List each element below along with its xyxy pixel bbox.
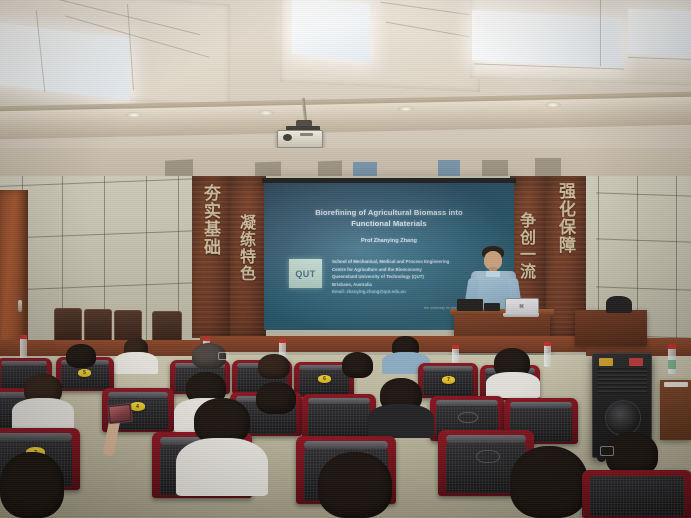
bottle-cap-icon [20,335,27,339]
skylight-far-right [628,9,691,56]
audience-head [342,352,373,378]
audience-shoulders [114,352,158,374]
seat-headrest [0,433,72,441]
glasses-icon [600,446,614,456]
downlight [258,110,274,116]
audience-shoulders [176,438,268,496]
downlight [398,106,414,112]
skylight-center [292,0,370,62]
pa-tweeter-grille [597,368,647,394]
seat-handle-icon [476,450,500,463]
back-chair [54,308,82,342]
auditorium-seat[interactable]: 7 [418,363,478,398]
audience-head [66,344,96,368]
air-grille [535,158,561,178]
audience-head-foreground [510,446,588,518]
qut-logo: QUT [289,259,322,288]
audience-shoulders [486,372,540,398]
slide-title-line2: Functional Materials [264,218,514,229]
light-panel [438,160,460,176]
back-chair [84,309,112,343]
seat-number-badge: 4 [130,402,145,411]
ceiling-seam [600,0,601,66]
calligraphy-panel-left-inner: 凝练特色 [230,176,266,338]
seat-handle-icon [458,412,478,423]
auditorium-seat[interactable] [582,470,691,518]
seat-back-panel [590,476,684,516]
audience-head [256,382,296,414]
ceiling [0,0,691,150]
auditorium-seat[interactable] [302,394,376,439]
door[interactable] [0,190,28,345]
presenter-collar [486,271,500,277]
audience-shoulders [368,404,434,438]
projector-lens [283,134,292,141]
downlight [545,102,561,108]
audience-shoulders [12,398,74,430]
paper-stack [664,382,688,387]
side-table [660,380,691,440]
seat-headrest [304,441,388,449]
av-cabinet [575,310,647,346]
pa-sticker-left [599,358,613,366]
wall-joint [0,178,200,187]
laptop-logo-icon: ⌘ [519,304,524,310]
calligraphy-panel-left-outer: 夯实基础 [192,176,230,338]
lecture-hall-photo: 夯实基础 凝练特色 争创一流 强化保障 Biorefining of Agric… [0,0,691,518]
equipment-box [457,299,483,311]
phone-screen [109,405,130,422]
bottle-cap-icon [452,345,459,349]
bottle-cap-icon [203,337,210,341]
seat-number-badge: 7 [442,376,455,384]
pa-sticker-right [629,358,643,366]
bottle-cap-icon [544,342,551,346]
projector-vent [300,133,313,136]
slide-presenter-name: Prof Zhanying Zhang [264,238,514,244]
downlight [126,112,142,118]
wall-joint [0,230,200,239]
calligraphy-text-right-outer: 强化保障 [556,182,574,254]
bottle-label [668,360,676,369]
pa-woofer [605,400,641,436]
audience-head-foreground [318,452,392,518]
bottle-cap-icon [279,339,286,343]
bottle-cap-icon [668,344,676,349]
glasses-icon [218,352,229,360]
equipment-box-small [484,303,500,311]
wall-joint [0,282,200,291]
slide-title-line1: Biorefining of Agricultural Biomass into [264,207,514,218]
calligraphy-text-left-outer: 夯实基础 [201,184,219,256]
water-bottle [20,338,27,360]
water-bottle [544,345,551,367]
qut-logo-text: QUT [295,269,315,279]
audience-head-foreground [0,452,64,518]
wall-joint [146,176,147,361]
wall-joint [676,176,677,361]
seat-headrest [446,435,526,443]
smartphone[interactable] [107,403,133,424]
seat-number-badge: 5 [78,369,91,377]
audience-head [258,354,290,379]
laptop-base [503,313,539,317]
stage-edge-left [0,340,200,356]
seat-number-badge: 6 [318,375,331,383]
seat-back-panel [308,404,370,437]
door-handle-icon[interactable] [18,300,22,312]
equipment-bag [606,296,632,313]
calligraphy-text-left-inner: 凝练特色 [237,214,254,282]
